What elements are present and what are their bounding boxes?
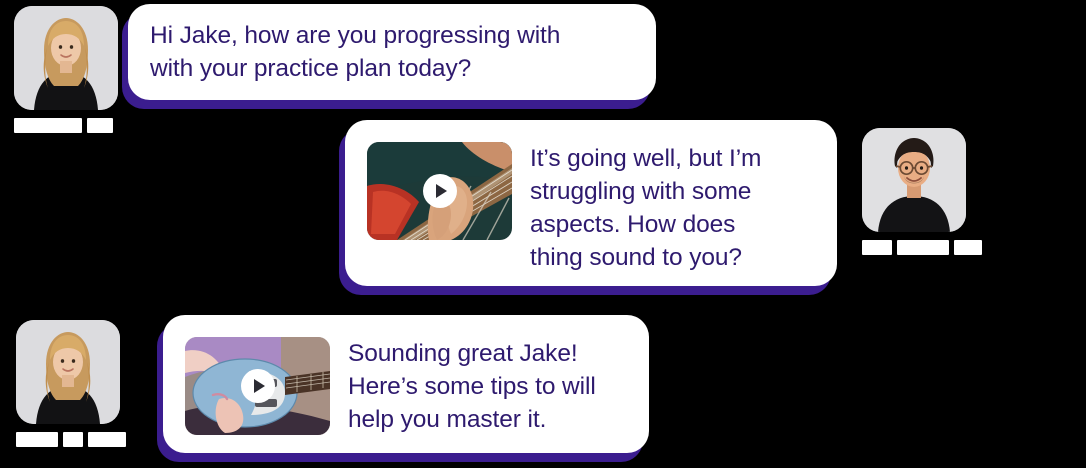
participant-name-redacted — [14, 116, 118, 134]
message-bubble-3[interactable]: Sounding great Jake! Here’s some tips to… — [163, 315, 649, 453]
participant-name-redacted — [862, 238, 982, 256]
message-bubble-1[interactable]: Hi Jake, how are you progressing with wi… — [128, 4, 656, 100]
message-text: Sounding great Jake! Here’s some tips to… — [348, 337, 596, 436]
play-icon[interactable] — [423, 174, 457, 208]
blue-guitar-video[interactable] — [185, 337, 330, 435]
participant-teacher-bottom — [16, 320, 126, 448]
avatar-teacher[interactable] — [14, 6, 118, 110]
participant-student — [862, 128, 982, 256]
avatar-student[interactable] — [862, 128, 966, 232]
avatar-teacher[interactable] — [16, 320, 120, 424]
participant-teacher-top — [14, 6, 118, 134]
message-text: It’s going well, but I’m struggling with… — [530, 142, 761, 274]
participant-name-redacted — [16, 430, 126, 448]
message-bubble-2[interactable]: It’s going well, but I’m struggling with… — [345, 120, 837, 286]
guitar-fretboard-video[interactable] — [367, 142, 512, 240]
play-icon[interactable] — [241, 369, 275, 403]
message-text: Hi Jake, how are you progressing with wi… — [150, 19, 560, 85]
chat-conversation-scene: Hi Jake, how are you progressing with wi… — [0, 0, 1086, 468]
